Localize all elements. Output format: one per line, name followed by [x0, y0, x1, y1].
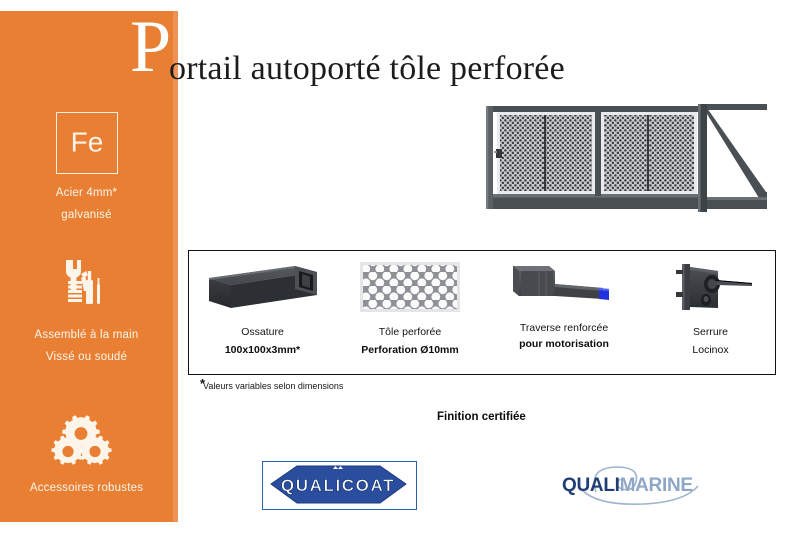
- perforated-sheet-swatch-icon: [336, 258, 484, 316]
- footnote-text: Valeurs variables selon dimensions: [203, 381, 343, 391]
- product-cell-traverse: Traverse renforcée pour motorisation: [484, 251, 644, 376]
- product-cell-serrure: Serrure Locinox: [644, 251, 777, 376]
- sidebar-feature-steel-line1: Acier 4mm*: [0, 183, 173, 205]
- product-features-box: Ossature 100x100x3mm*: [188, 250, 776, 375]
- sidebar-feature-accessories: Accessoires robustes: [0, 478, 173, 500]
- reinforced-crossbeam-icon: [484, 258, 644, 316]
- qualimarine-wordmark-part2: MARINE: [620, 475, 693, 496]
- svg-text:QUALICOAT: QUALICOAT: [281, 476, 395, 495]
- cantilever-sliding-gate-illustration: [484, 94, 776, 214]
- sidebar-feature-assembly-line1: Assemblé à la main: [0, 325, 173, 347]
- product-name-ossature: Ossature: [189, 325, 336, 340]
- sidebar-feature-assembly-line2: Vissé ou soudé: [0, 347, 173, 369]
- page-title-text: ortail autoporté tôle perforée: [169, 52, 565, 86]
- fe-symbol-label: Fe: [57, 126, 117, 158]
- product-spec-tole-perforee: Perforation Ø10mm: [336, 343, 484, 358]
- product-spec-serrure: Locinox: [644, 343, 777, 358]
- fe-element-box-icon: Fe: [56, 112, 118, 174]
- qualimarine-wordmark-part1: QUALI: [562, 475, 620, 496]
- product-spec-ossature: 100x100x3mm*: [189, 343, 336, 358]
- gears-icon: [0, 413, 173, 468]
- product-name-traverse: Traverse renforcée: [484, 321, 644, 336]
- page-title-drop-cap: P: [130, 10, 171, 84]
- sidebar-feature-steel: Acier 4mm* galvanisé: [0, 183, 173, 227]
- sidebar-feature-steel-line2: galvanisé: [0, 205, 173, 227]
- sidebar-feature-accessories-line1: Accessoires robustes: [0, 478, 173, 500]
- qualimarine-logo: QUALIMARINE: [558, 462, 718, 510]
- page-title: P ortail autoporté tôle perforée: [130, 26, 790, 88]
- product-sheet-page: Fe Acier 4mm* galvanisé Assemblé à la: [0, 0, 800, 534]
- product-cell-tole-perforee: Tôle perforée Perforation Ø10mm: [336, 251, 484, 376]
- steel-frame-profile-icon: [189, 258, 336, 316]
- sidebar-feature-assembly: Assemblé à la main Vissé ou soudé: [0, 325, 173, 369]
- hand-tools-icon: [0, 258, 173, 308]
- product-name-serrure: Serrure: [644, 325, 777, 340]
- product-name-tole-perforee: Tôle perforée: [336, 325, 484, 340]
- certification-heading: Finition certifiée: [437, 411, 526, 423]
- product-spec-traverse: pour motorisation: [484, 337, 644, 352]
- product-cell-ossature: Ossature 100x100x3mm*: [189, 251, 336, 376]
- qualimarine-wordmark: QUALIMARINE: [562, 476, 693, 495]
- lock-icon: [644, 258, 777, 316]
- qualicoat-logo: QUALICOAT: [262, 461, 417, 510]
